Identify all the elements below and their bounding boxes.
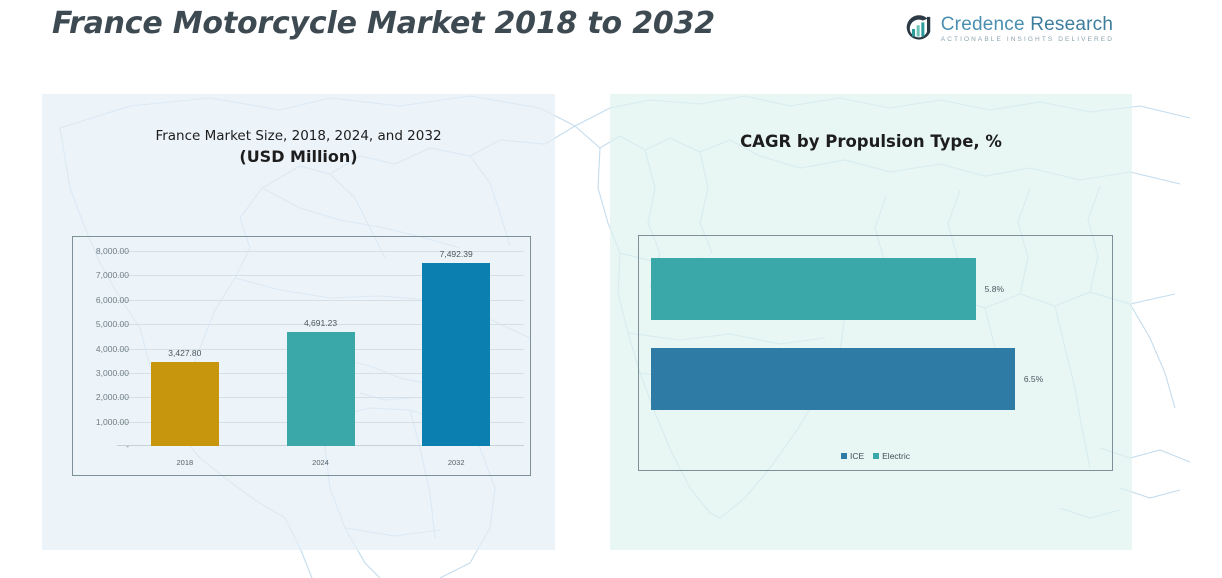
legend-item[interactable]: Electric [873,451,910,461]
logo-name-secondary: Research [1025,14,1113,35]
bar-value-label: 3,427.80 [168,348,201,358]
x-axis-category-label: 2032 [448,458,465,467]
logo-tagline: Actionable Insights Delivered [941,37,1114,44]
legend-label: Electric [882,451,910,461]
y-axis-tick-label: 8,000.00 [79,246,129,256]
panel-market-size: France Market Size, 2018, 2024, and 2032… [42,94,555,550]
y-axis-tick-label: 4,000.00 [79,344,129,354]
x-axis-category-label: 2018 [176,458,193,467]
legend-swatch [841,453,847,459]
y-axis-tick-label: 6,000.00 [79,295,129,305]
panel-cagr: CAGR by Propulsion Type, % 5.8%6.5% ICEE… [610,94,1132,550]
right-chart-title: CAGR by Propulsion Type, % [610,132,1132,151]
logo-wordmark: Credence Research Actionable Insights De… [941,15,1114,44]
y-axis-tick-label: - [79,441,129,451]
y-axis-tick-label: 2,000.00 [79,392,129,402]
left-chart-title-line1: France Market Size, 2018, 2024, and 2032 [42,128,555,144]
bar-value-label: 4,691.23 [304,318,337,328]
bar-value-label: 7,492.39 [440,249,473,259]
header: France Motorcycle Market 2018 to 2032 Cr… [0,0,1222,62]
x-axis-category-label: 2024 [312,458,329,467]
column-bar[interactable] [422,263,490,446]
y-axis-tick-label: 5,000.00 [79,319,129,329]
page-title: France Motorcycle Market 2018 to 2032 [52,6,715,41]
credence-research-logo: Credence Research Actionable Insights De… [904,14,1114,44]
horizontal-bar[interactable] [651,258,976,320]
y-axis-tick-label: 1,000.00 [79,417,129,427]
left-chart-title-line2: (USD Million) [42,147,555,166]
y-axis-tick-label: 3,000.00 [79,368,129,378]
column-bar[interactable] [151,362,219,446]
bar-value-label: 5.8% [985,284,1004,294]
market-size-column-chart: -1,000.002,000.003,000.004,000.005,000.0… [72,236,531,476]
legend-swatch [873,453,879,459]
column-bar[interactable] [287,332,355,446]
horizontal-bar[interactable] [651,348,1015,410]
bar-chart-circle-icon [904,14,934,44]
legend-label: ICE [850,451,864,461]
y-axis-tick-label: 7,000.00 [79,270,129,280]
logo-name-primary: Credence [941,14,1025,35]
logo-name: Credence Research [941,15,1114,34]
legend-item[interactable]: ICE [841,451,864,461]
bar-value-label: 6.5% [1024,374,1043,384]
cagr-bar-chart: 5.8%6.5% ICEElectric [638,235,1113,471]
cagr-legend: ICEElectric [639,451,1112,461]
